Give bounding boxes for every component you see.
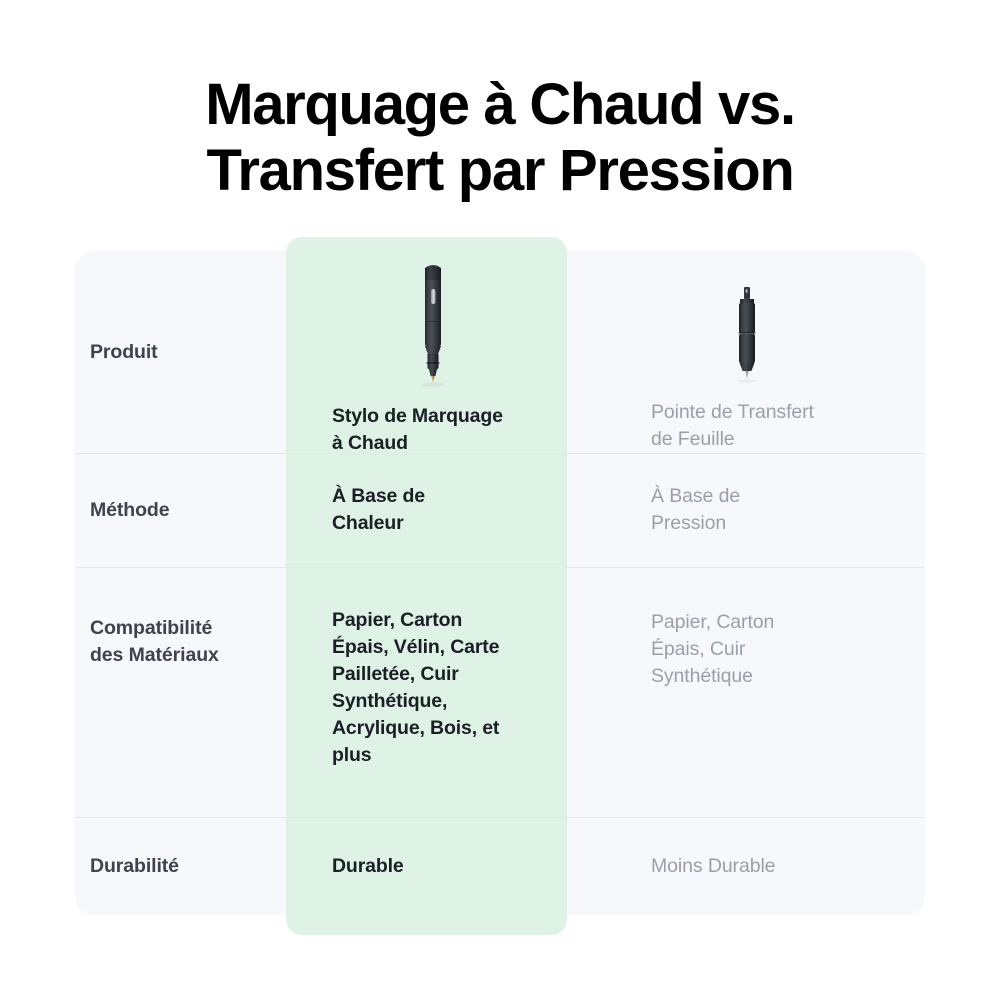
highlighted-product-cell: Stylo de Marquage à Chaud: [286, 251, 567, 453]
hot-foil-pen-image: [332, 261, 547, 387]
table-row: Produit: [75, 251, 925, 453]
table-row: Compatibilité des Matériaux Papier, Cart…: [75, 567, 925, 817]
foil-transfer-tip-image: [651, 261, 905, 383]
cell-value: À Base de Pression: [651, 483, 899, 537]
alternate-value-cell: Moins Durable: [567, 817, 925, 915]
row-label: Durabilité: [90, 853, 262, 880]
row-label: Méthode: [90, 497, 262, 524]
cell-value: À Base de Chaleur: [332, 483, 541, 537]
cell-value: Durable: [332, 853, 541, 880]
cell-value: Moins Durable: [651, 853, 899, 880]
alternate-product-cell: Pointe de Transfert de Feuille: [567, 251, 925, 453]
highlighted-value-cell: À Base de Chaleur: [286, 453, 567, 567]
row-label-cell: Produit: [75, 251, 286, 453]
page-title: Marquage à Chaud vs. Transfert par Press…: [0, 72, 1000, 204]
table-row: Méthode À Base de Chaleur À Base de Pres…: [75, 453, 925, 567]
comparison-table: Produit: [75, 251, 925, 915]
row-label-cell: Durabilité: [75, 817, 286, 915]
row-label-cell: Compatibilité des Matériaux: [75, 567, 286, 817]
comparison-infographic: Marquage à Chaud vs. Transfert par Press…: [0, 0, 1000, 1000]
product-caption: Stylo de Marquage à Chaud: [332, 403, 547, 457]
alternate-value-cell: À Base de Pression: [567, 453, 925, 567]
highlighted-value-cell: Durable: [286, 817, 567, 915]
cell-value: Papier, Carton Épais, Vélin, Carte Paill…: [332, 607, 541, 769]
cell-value: Papier, Carton Épais, Cuir Synthétique: [651, 609, 899, 690]
row-label-cell: Méthode: [75, 453, 286, 567]
highlighted-value-cell: Papier, Carton Épais, Vélin, Carte Paill…: [286, 567, 567, 817]
table-row: Durabilité Durable Moins Durable: [75, 817, 925, 915]
product-caption: Pointe de Transfert de Feuille: [651, 399, 905, 453]
row-label: Compatibilité des Matériaux: [90, 615, 262, 669]
alternate-value-cell: Papier, Carton Épais, Cuir Synthétique: [567, 567, 925, 817]
row-label: Produit: [90, 339, 262, 366]
